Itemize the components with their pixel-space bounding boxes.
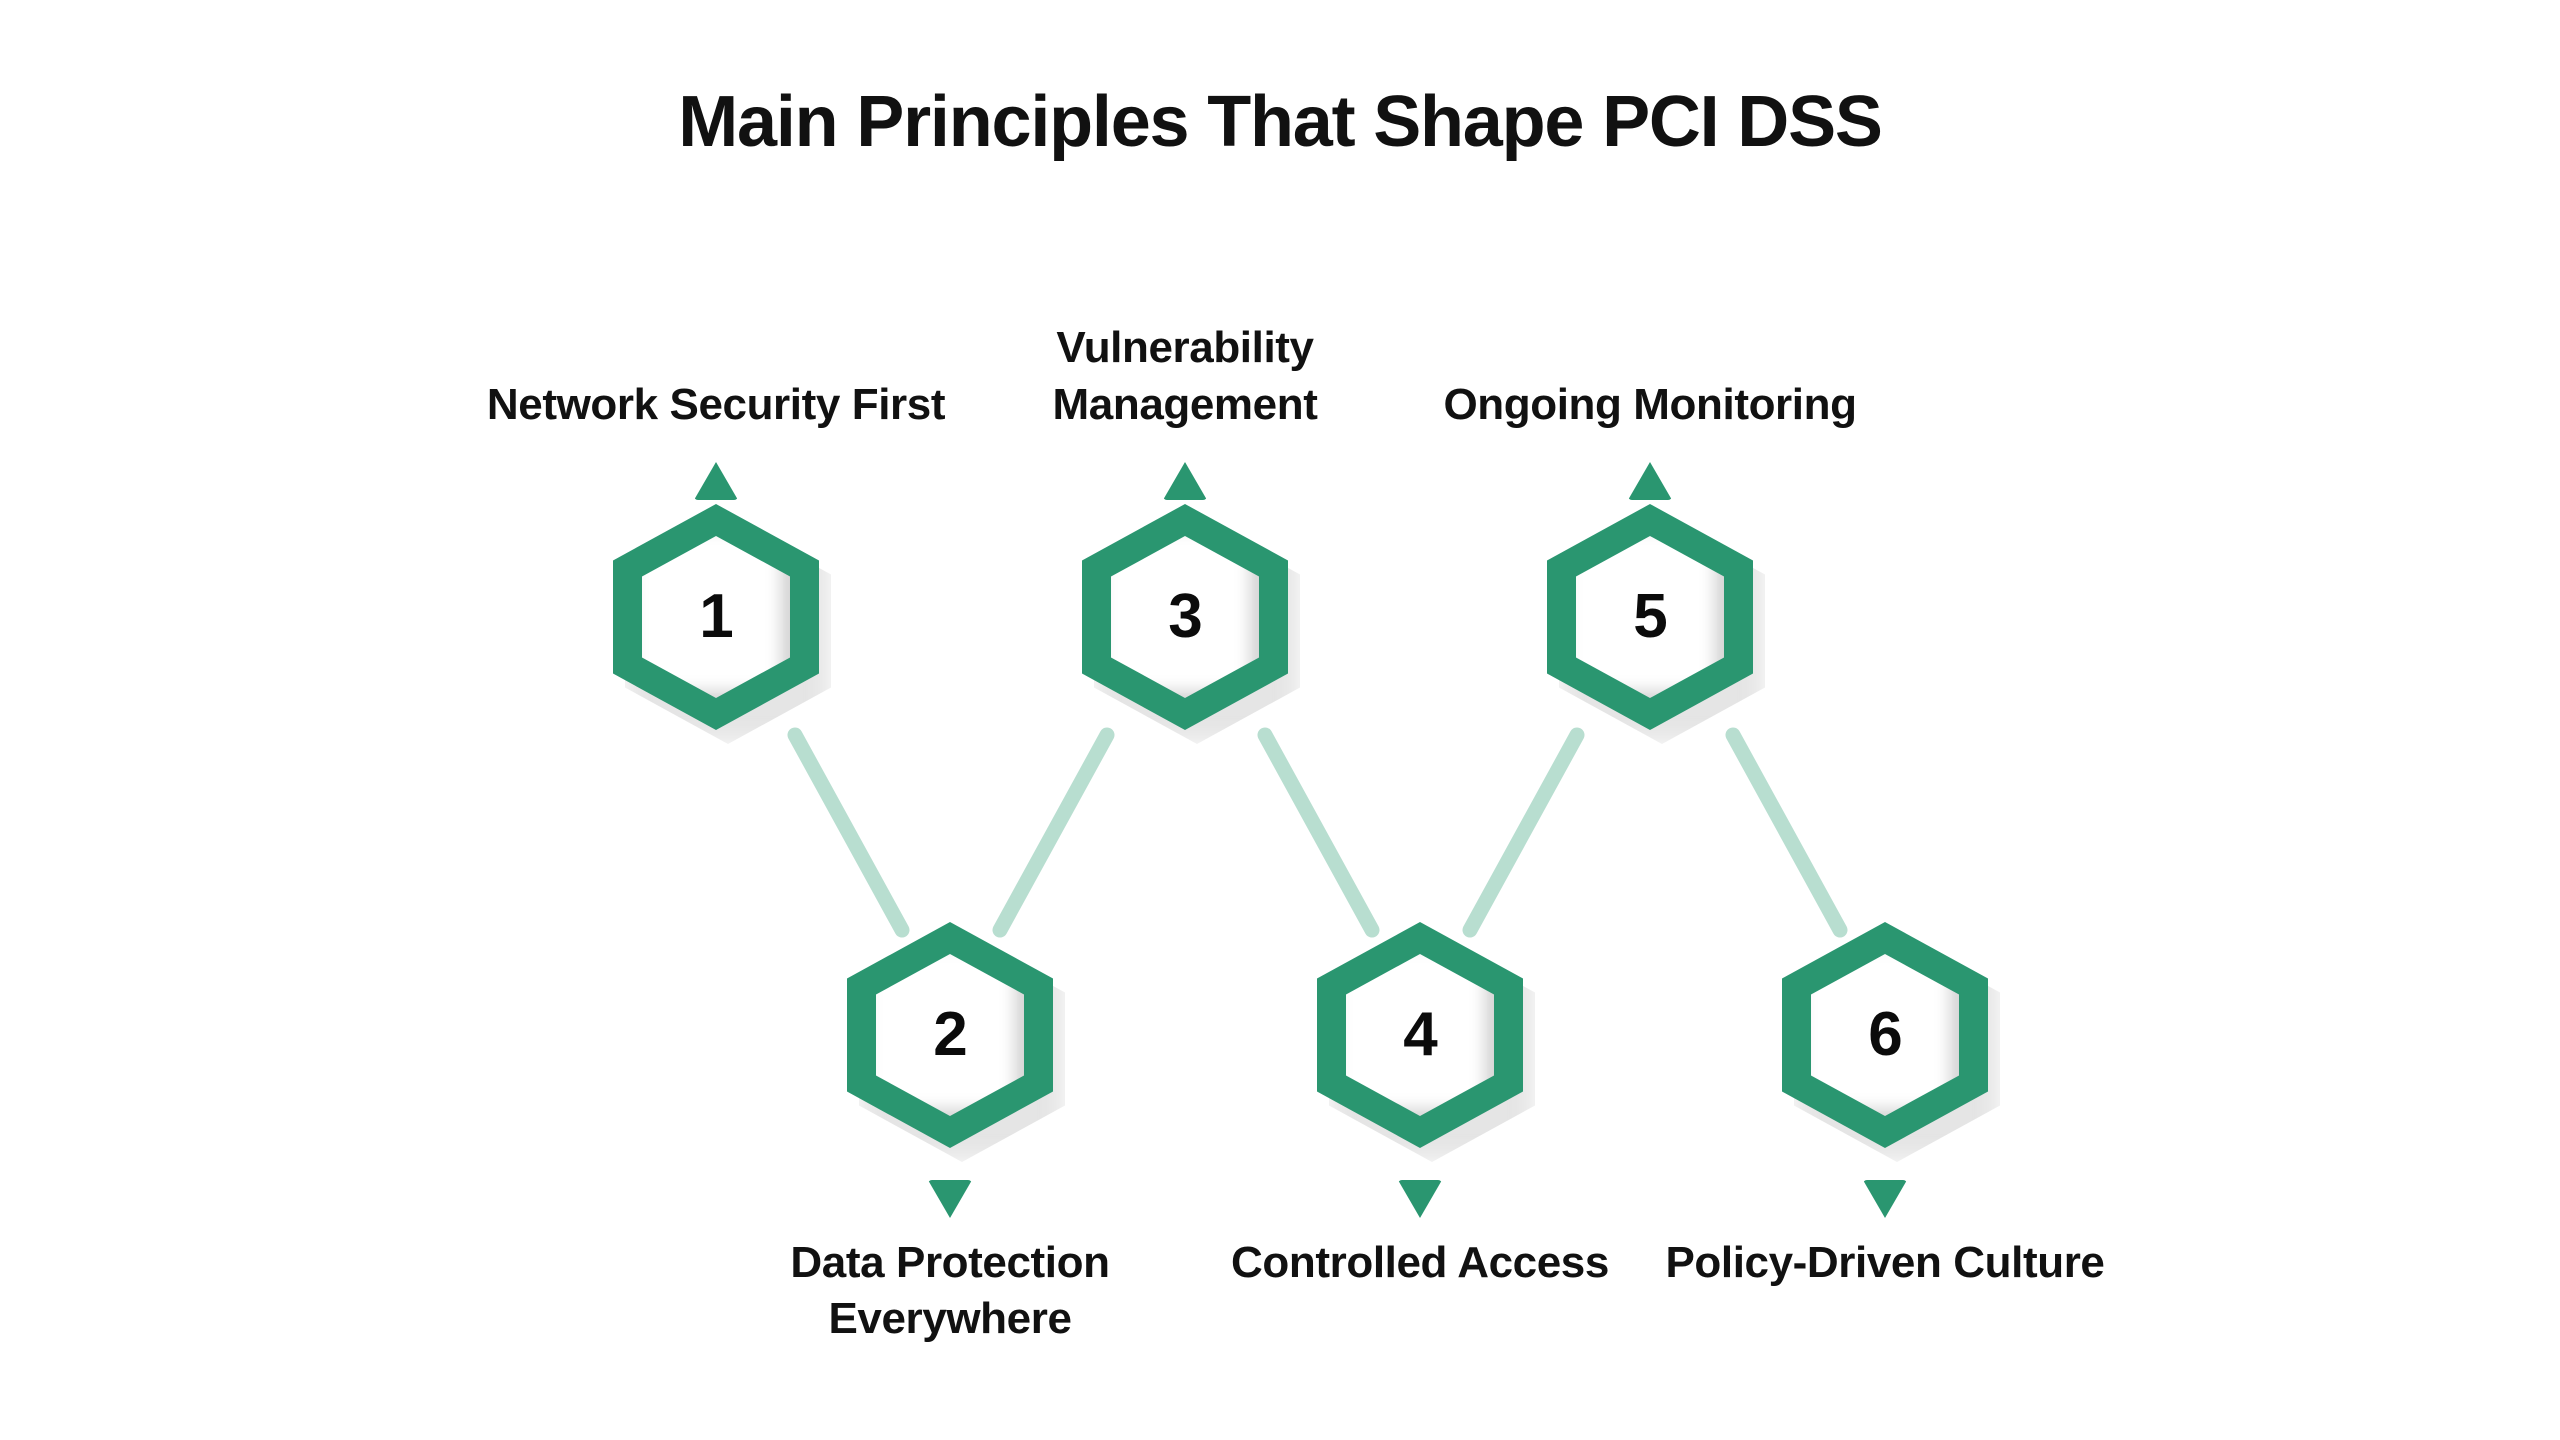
node-6-hexagon[interactable]: 6	[1782, 922, 1988, 1148]
node-3-number: 3	[1082, 504, 1288, 730]
node-6-number: 6	[1782, 922, 1988, 1148]
node-5-label: Ongoing Monitoring	[1390, 377, 1910, 433]
node-3-hexagon[interactable]: 3	[1082, 504, 1288, 730]
node-4-hexagon[interactable]: 4	[1317, 922, 1523, 1148]
node-2-number: 2	[847, 922, 1053, 1148]
triangle-up-icon	[1628, 462, 1672, 500]
node-1-hexagon[interactable]: 1	[613, 504, 819, 730]
node-5-hexagon[interactable]: 5	[1547, 504, 1753, 730]
node-5-number: 5	[1547, 504, 1753, 730]
node-4-label: Controlled Access	[1160, 1235, 1680, 1291]
node-3-label: Vulnerability Management	[925, 320, 1445, 433]
page-title: Main Principles That Shape PCI DSS	[0, 82, 2560, 163]
infographic-canvas: Main Principles That Shape PCI DSS Netwo…	[0, 0, 2560, 1440]
node-6-label: Policy-Driven Culture	[1625, 1235, 2145, 1291]
connector-4-5	[1470, 735, 1577, 930]
connector-2-3	[1000, 735, 1107, 930]
connector-3-4	[1265, 735, 1372, 930]
node-2-hexagon[interactable]: 2	[847, 922, 1053, 1148]
node-1-number: 1	[613, 504, 819, 730]
node-2-label: Data Protection Everywhere	[690, 1235, 1210, 1348]
node-4-number: 4	[1317, 922, 1523, 1148]
triangle-down-icon	[928, 1180, 972, 1218]
node-1-label: Network Security First	[456, 377, 976, 433]
connector-1-2	[795, 735, 902, 930]
triangle-up-icon	[694, 462, 738, 500]
triangle-up-icon	[1163, 462, 1207, 500]
triangle-down-icon	[1398, 1180, 1442, 1218]
triangle-down-icon	[1863, 1180, 1907, 1218]
connector-5-6	[1733, 735, 1840, 930]
